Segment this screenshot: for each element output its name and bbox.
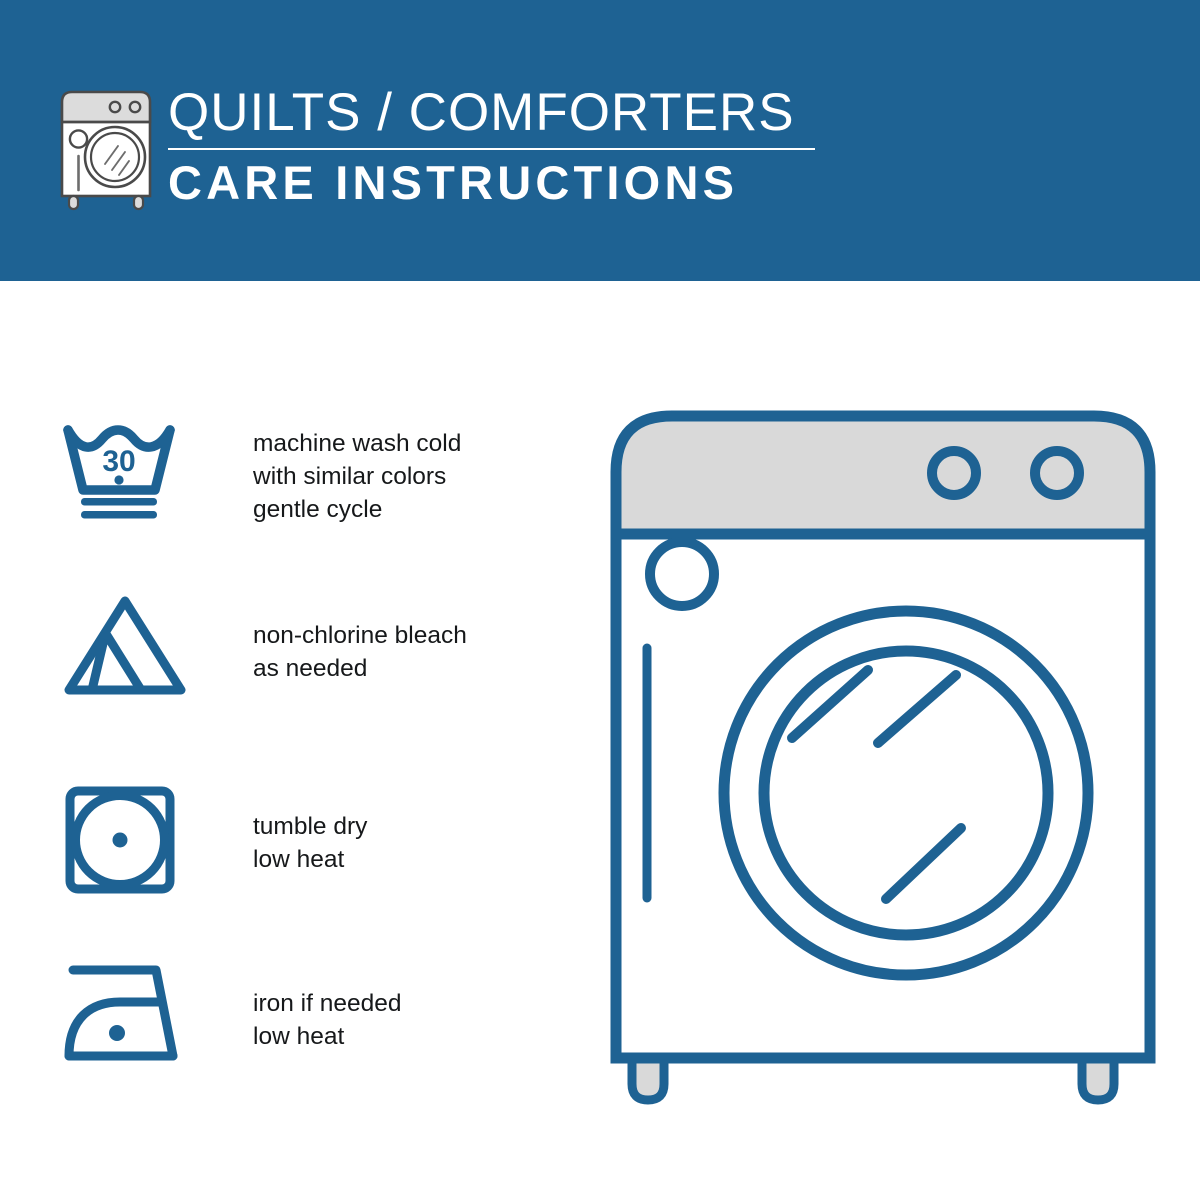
care-instruction-text-dry: tumble dry low heat (253, 810, 367, 876)
wash-tub-icon: 30 (60, 417, 188, 525)
wash-temperature-label: 30 (102, 445, 135, 478)
washing-machine-illustration (596, 398, 1172, 1122)
care-instruction-text-bleach: non-chlorine bleach as needed (253, 619, 467, 685)
care-instruction-list: 30 machine wash cold with similar colors… (0, 281, 560, 1200)
care-instruction-text-iron: iron if needed low heat (253, 987, 401, 1053)
iron-icon (60, 959, 194, 1067)
washing-machine-icon (52, 80, 160, 210)
page-title-primary: QUILTS / COMFORTERS (168, 84, 828, 142)
header-banner: QUILTS / COMFORTERS CARE INSTRUCTIONS (0, 0, 1200, 281)
header-title-block: QUILTS / COMFORTERS CARE INSTRUCTIONS (168, 84, 828, 209)
header-divider (168, 148, 815, 150)
page-title-secondary: CARE INSTRUCTIONS (168, 157, 828, 209)
tumble-dry-icon (60, 786, 188, 894)
bleach-triangle-icon (60, 591, 188, 699)
care-instruction-text-wash: machine wash cold with similar colors ge… (253, 427, 461, 526)
control-panel (616, 416, 1150, 534)
